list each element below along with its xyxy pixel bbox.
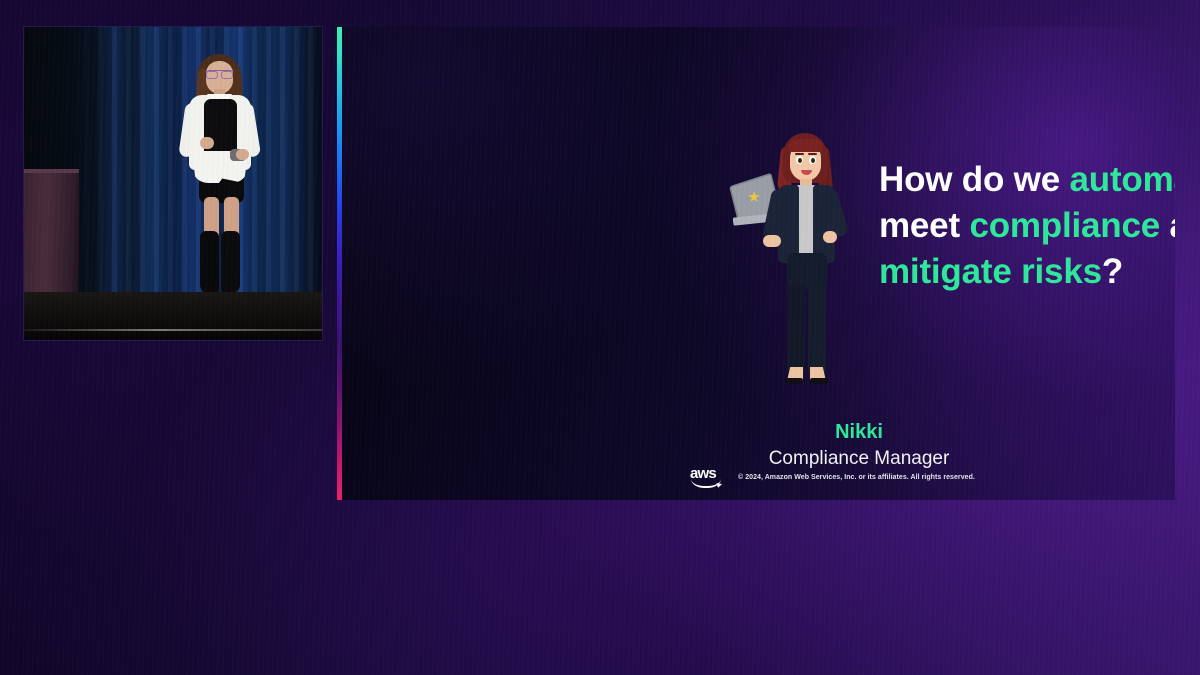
speaker-video-panel xyxy=(24,27,322,340)
slide-headline: How do we automate to meet compliance an… xyxy=(879,157,1175,296)
aws-logo-icon: aws xyxy=(690,466,723,488)
headline-question-mark: ? xyxy=(1102,252,1123,291)
headline-line2-part1: meet xyxy=(879,206,969,245)
headline-line1-part1: How do we xyxy=(879,160,1070,199)
slide-accent-gradient-bar xyxy=(337,27,342,500)
podium-top-surface xyxy=(24,169,79,173)
headline-highlight-mitigate-risks: mitigate risks xyxy=(879,252,1102,291)
presentation-stage-backdrop: How do we automate to meet compliance an… xyxy=(0,0,1200,675)
stage-floor-edge xyxy=(24,329,322,331)
character-illustration-nikki xyxy=(735,127,865,417)
copyright-notice: © 2024, Amazon Web Services, Inc. or its… xyxy=(738,474,975,481)
character-name: Nikki xyxy=(674,420,1044,445)
headline-line2-part3: and xyxy=(1160,206,1175,245)
speaker-glasses xyxy=(206,70,233,76)
aws-logo-smile-arrow xyxy=(691,479,721,488)
stage-floor xyxy=(24,292,322,341)
headline-highlight-compliance: compliance xyxy=(969,206,1160,245)
slide-footer: aws © 2024, Amazon Web Services, Inc. or… xyxy=(690,466,975,488)
headline-highlight-automate: automate xyxy=(1070,160,1175,199)
presentation-slide: How do we automate to meet compliance an… xyxy=(337,27,1175,500)
character-name-block: Nikki Compliance Manager xyxy=(674,420,1044,472)
podium xyxy=(24,169,79,310)
